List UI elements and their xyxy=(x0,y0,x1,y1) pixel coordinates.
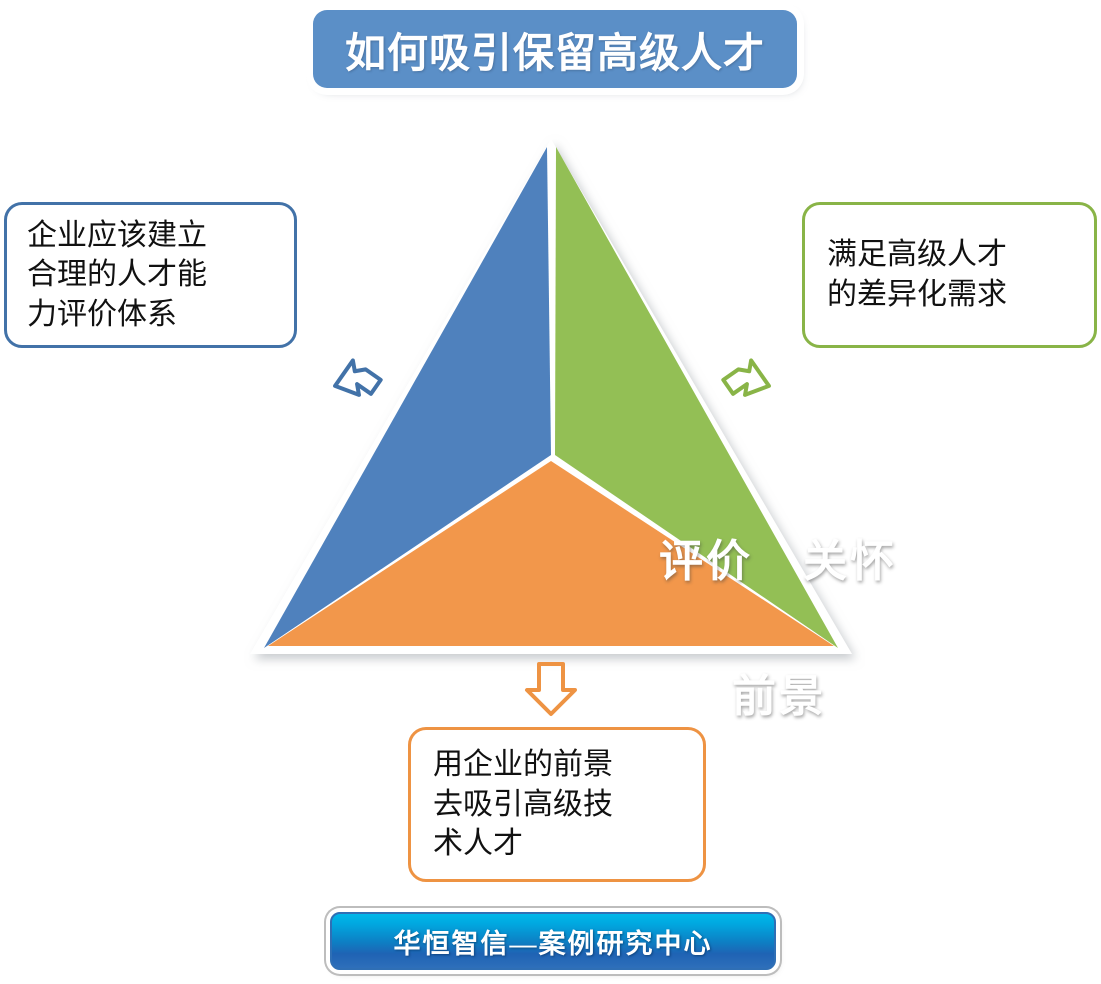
callout-box-left[interactable]: 企业应该建立 合理的人才能 力评价体系 xyxy=(4,202,297,348)
page-title: 如何吸引保留高级人才 xyxy=(345,19,765,79)
footer-label: 华恒智信—案例研究中心 xyxy=(394,922,713,961)
callout-left-text: 企业应该建立 合理的人才能 力评价体系 xyxy=(27,216,207,335)
arrow-down-icon xyxy=(521,660,581,725)
slide-canvas: 如何吸引保留高级人才 评价 关怀 前景 xyxy=(0,0,1101,984)
callout-box-right[interactable]: 满足高级人才 的差异化需求 xyxy=(802,202,1097,348)
callout-right-text: 满足高级人才 的差异化需求 xyxy=(827,235,1007,314)
arrow-up-right-icon xyxy=(716,352,778,419)
page-title-banner: 如何吸引保留高级人才 xyxy=(313,10,797,88)
callout-box-bottom[interactable]: 用企业的前景 去吸引高级技 术人才 xyxy=(408,727,706,882)
arrow-up-left-icon xyxy=(326,352,388,419)
callout-bottom-text: 用企业的前景 去吸引高级技 术人才 xyxy=(433,745,613,864)
footer-banner: 华恒智信—案例研究中心 xyxy=(330,912,776,970)
